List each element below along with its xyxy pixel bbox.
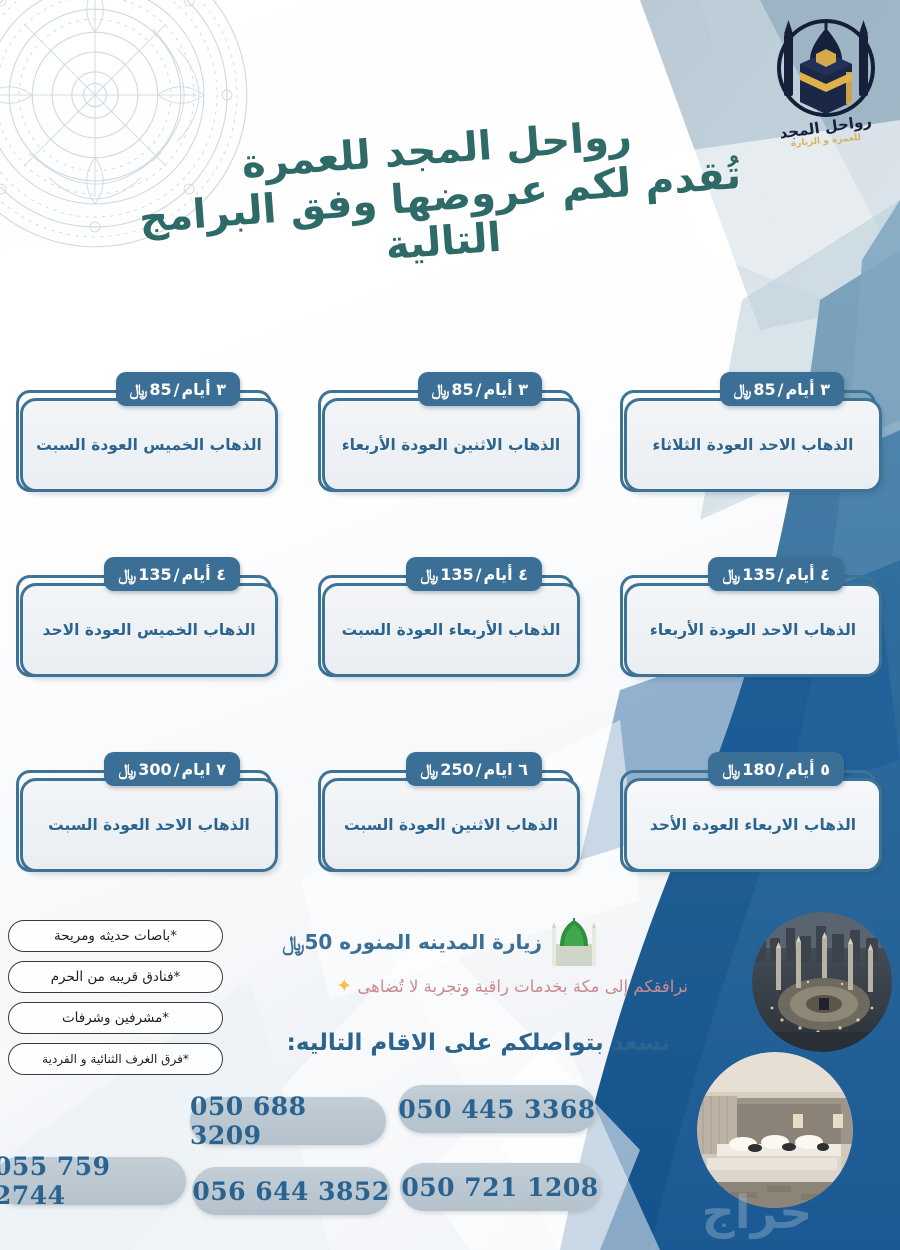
package-card[interactable]: ٤ أيام / 135 ﷼ الذهاب الاحد العودة الأرب… — [620, 565, 882, 673]
package-label: الذهاب الاحد العودة السبت — [48, 816, 250, 834]
badge-price: 135 — [440, 565, 473, 584]
badge-days: ٣ أيام — [483, 380, 528, 399]
riyal-symbol: ﷼ — [734, 380, 752, 400]
riyal-symbol: ﷼ — [118, 760, 136, 780]
feature-pill: *فنادق قريبه من الحرم — [8, 961, 223, 993]
badge-price: 135 — [138, 565, 171, 584]
phone-numbers-group: 050 445 3368 050 688 3209 050 721 1208 0… — [0, 1085, 640, 1235]
package-card[interactable]: ٤ أيام / 135 ﷼ الذهاب الأربعاء العودة ال… — [318, 565, 580, 673]
package-label: الذهاب الاثنين العودة السبت — [344, 816, 558, 834]
badge-separator: / — [174, 760, 180, 779]
package-badge: ٣ أيام / 85 ﷼ — [418, 372, 542, 406]
badge-separator: / — [778, 380, 784, 399]
features-list: *باصات حديثه ومريحة *فنادق قريبه من الحر… — [8, 920, 223, 1084]
badge-separator: / — [476, 760, 482, 779]
package-label: الذهاب الاثنين العودة الأربعاء — [342, 436, 561, 454]
package-badge: ٤ أيام / 135 ﷼ — [708, 557, 844, 591]
card-body: الذهاب الاثنين العودة الأربعاء — [322, 398, 580, 492]
badge-days: ٤ أيام — [181, 565, 226, 584]
package-label: الذهاب الخميس العودة السبت — [36, 436, 262, 454]
card-body: الذهاب الأربعاء العودة السبت — [322, 583, 580, 677]
badge-price: 180 — [742, 760, 775, 779]
badge-days: ٣ أيام — [181, 380, 226, 399]
badge-separator: / — [174, 565, 180, 584]
package-badge: ٦ ايام / 250 ﷼ — [406, 752, 542, 786]
package-card[interactable]: ٧ ايام / 300 ﷼ الذهاب الاحد العودة السبت — [16, 760, 278, 868]
packages-grid: ٣ أيام / 85 ﷼ الذهاب الاحد العودة الثلاث… — [0, 360, 900, 890]
package-label: الذهاب الاربعاء العودة الأحد — [650, 816, 856, 834]
package-card[interactable]: ٤ أيام / 135 ﷼ الذهاب الخميس العودة الاح… — [16, 565, 278, 673]
card-body: الذهاب الاحد العودة السبت — [20, 778, 278, 872]
riyal-symbol: ﷼ — [130, 380, 148, 400]
card-body: الذهاب الاحد العودة الأربعاء — [624, 583, 882, 677]
riyal-symbol: ﷼ — [432, 380, 450, 400]
card-body: الذهاب الاحد العودة الثلاثاء — [624, 398, 882, 492]
package-card[interactable]: ٥ أيام / 180 ﷼ الذهاب الاربعاء العودة ال… — [620, 760, 882, 868]
phone-number[interactable]: 050 688 3209 — [190, 1097, 386, 1145]
package-badge: ٤ أيام / 135 ﷼ — [406, 557, 542, 591]
badge-price: 250 — [440, 760, 473, 779]
package-card[interactable]: ٣ أيام / 85 ﷼ الذهاب الاحد العودة الثلاث… — [620, 380, 882, 488]
watermark-text: حراج — [702, 1185, 813, 1239]
package-card[interactable]: ٣ أيام / 85 ﷼ الذهاب الخميس العودة السبت — [16, 380, 278, 488]
badge-separator: / — [476, 380, 482, 399]
badge-days: ٤ أيام — [785, 565, 830, 584]
madinah-visit-text: زيارة المدينه المنوره 50﷼ — [282, 930, 542, 954]
madinah-visit-row: زيارة المدينه المنوره 50﷼ — [270, 918, 600, 966]
card-body: الذهاب الخميس العودة الاحد — [20, 583, 278, 677]
feature-pill: *باصات حديثه ومريحة — [8, 920, 223, 952]
badge-price: 135 — [742, 565, 775, 584]
badge-price: 85 — [451, 380, 473, 399]
badge-price: 300 — [138, 760, 171, 779]
badge-separator: / — [778, 565, 784, 584]
riyal-symbol: ﷼ — [118, 565, 136, 585]
badge-separator: / — [174, 380, 180, 399]
madinah-label: زيارة المدينه المنوره 50 — [304, 930, 542, 954]
package-card[interactable]: ٦ ايام / 250 ﷼ الذهاب الاثنين العودة الس… — [318, 760, 580, 868]
badge-days: ٦ ايام — [483, 760, 528, 779]
phone-number[interactable]: 050 721 1208 — [400, 1163, 600, 1211]
card-body: الذهاب الاربعاء العودة الأحد — [624, 778, 882, 872]
phone-number[interactable]: 050 445 3368 — [398, 1085, 596, 1133]
feature-pill: *فرق الغرف الثنائية و الفردية — [8, 1043, 223, 1075]
badge-days: ٧ ايام — [181, 760, 226, 779]
phone-number[interactable]: 055 759 2744 — [0, 1157, 186, 1205]
poster-canvas: رواحل المجد للعمرة و الزيارة رواحل المجد… — [0, 0, 900, 1250]
riyal-symbol: ﷼ — [722, 760, 740, 780]
package-label: الذهاب الخميس العودة الاحد — [42, 621, 255, 639]
riyal-symbol: ﷼ — [722, 565, 740, 585]
badge-days: ٣ أيام — [785, 380, 830, 399]
contact-heading: نسعد بتواصلكم على الاقام التاليه: — [270, 1030, 670, 1056]
tagline-text: نرافقكم إلى مكة بخدمات راقية وتجربة لا ت… — [357, 977, 688, 996]
site-watermark: حراج — [632, 1182, 882, 1242]
package-badge: ٣ أيام / 85 ﷼ — [720, 372, 844, 406]
service-tagline: نرافقكم إلى مكة بخدمات راقية وتجربة لا ت… — [268, 975, 688, 997]
riyal-symbol: ﷼ — [420, 565, 438, 585]
package-label: الذهاب الاحد العودة الأربعاء — [650, 621, 856, 639]
badge-price: 85 — [753, 380, 775, 399]
badge-separator: / — [778, 760, 784, 779]
feature-pill: *مشرفين وشرفات — [8, 1002, 223, 1034]
badge-days: ٤ أيام — [483, 565, 528, 584]
package-card[interactable]: ٣ أيام / 85 ﷼ الذهاب الاثنين العودة الأر… — [318, 380, 580, 488]
package-label: الذهاب الاحد العودة الثلاثاء — [653, 436, 854, 454]
riyal-symbol: ﷼ — [420, 760, 438, 780]
card-body: الذهاب الخميس العودة السبت — [20, 398, 278, 492]
package-badge: ٥ أيام / 180 ﷼ — [708, 752, 844, 786]
package-badge: ٣ أيام / 85 ﷼ — [116, 372, 240, 406]
green-dome-icon — [548, 918, 600, 966]
badge-separator: / — [476, 565, 482, 584]
phone-number[interactable]: 056 644 3852 — [192, 1167, 390, 1215]
package-badge: ٧ ايام / 300 ﷼ — [104, 752, 240, 786]
badge-days: ٥ أيام — [785, 760, 830, 779]
package-badge: ٤ أيام / 135 ﷼ — [104, 557, 240, 591]
badge-price: 85 — [149, 380, 171, 399]
sparkle-icon: ✦ — [336, 975, 352, 997]
card-body: الذهاب الاثنين العودة السبت — [322, 778, 580, 872]
riyal-symbol: ﷼ — [282, 931, 304, 955]
photo-masjid-al-haram — [752, 912, 892, 1052]
package-label: الذهاب الأربعاء العودة السبت — [342, 621, 561, 639]
